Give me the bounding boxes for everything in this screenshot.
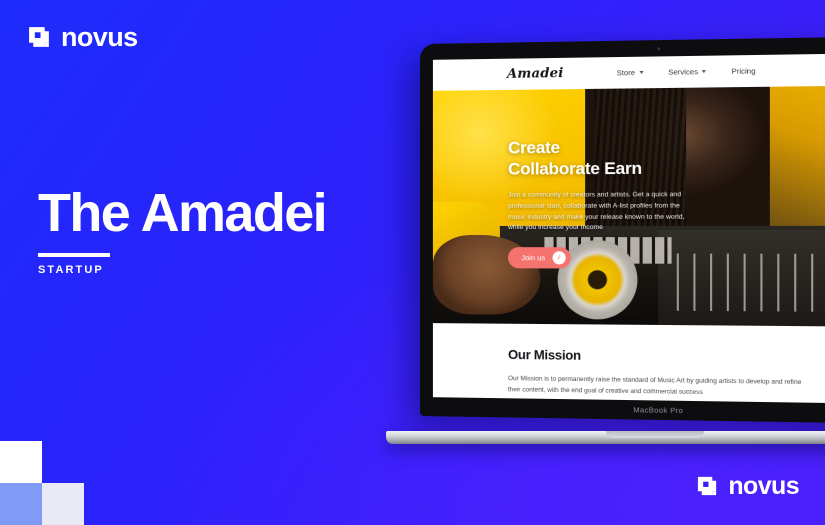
nav-item-store-label: Store bbox=[617, 68, 635, 77]
site-logo[interactable]: Amadei bbox=[507, 66, 563, 82]
laptop-base bbox=[386, 431, 825, 444]
chevron-down-icon bbox=[639, 71, 643, 74]
nav-item-services-label: Services bbox=[668, 67, 698, 77]
webcam-icon bbox=[657, 47, 660, 50]
square-bottom-left bbox=[0, 483, 42, 525]
mission-heading: Our Mission bbox=[508, 347, 825, 367]
brand-wordmark: novus bbox=[728, 474, 799, 499]
novus-square-mark-icon bbox=[696, 475, 719, 498]
laptop-base-notch bbox=[606, 431, 704, 438]
device-label: MacBook Pro bbox=[420, 402, 825, 419]
nav-item-pricing[interactable]: Pricing bbox=[731, 66, 755, 76]
brand-logo-bottom-right: novus bbox=[696, 474, 799, 499]
join-us-button-label: Join us bbox=[521, 253, 545, 262]
brand-logo-top-left: novus bbox=[27, 24, 138, 51]
novus-square-mark-icon bbox=[27, 25, 52, 50]
hero-heading-line-1: Create bbox=[508, 136, 690, 159]
square-top-right bbox=[42, 441, 84, 483]
brand-wordmark: novus bbox=[61, 24, 138, 51]
nav-item-pricing-label: Pricing bbox=[731, 66, 755, 76]
chevron-down-icon bbox=[702, 70, 706, 73]
hero-paragraph: Join a community of creators and artists… bbox=[508, 190, 690, 234]
site-nav: Store Services Pricing bbox=[617, 66, 756, 77]
hero-heading-line-2: Collaborate Earn bbox=[508, 157, 690, 179]
site-mission-section: Our Mission Our Mission is to permanentl… bbox=[433, 323, 825, 404]
photo-mixer-faders bbox=[677, 254, 825, 312]
nav-item-store[interactable]: Store bbox=[617, 68, 644, 78]
square-top-left bbox=[0, 441, 42, 483]
square-bottom-right bbox=[42, 483, 84, 525]
mission-paragraph: Our Mission is to permanently raise the … bbox=[508, 373, 803, 400]
laptop-screen: Amadei Store Services Pricing bbox=[433, 53, 825, 404]
music-note-icon: ♪ bbox=[552, 251, 565, 264]
nav-item-services[interactable]: Services bbox=[668, 67, 706, 77]
title-divider bbox=[38, 253, 110, 257]
page-title: The Amadei bbox=[38, 186, 326, 241]
site-hero-section: Create Collaborate Earn Join a community… bbox=[433, 85, 825, 327]
hero-copy-block: Create Collaborate Earn Join a community… bbox=[508, 136, 690, 269]
hero-heading: Create Collaborate Earn bbox=[508, 136, 690, 180]
laptop-mockup: MacBook Pro Amadei Store Services bbox=[420, 44, 825, 444]
site-navbar: Amadei Store Services Pricing bbox=[433, 53, 825, 91]
laptop-lid: MacBook Pro Amadei Store Services bbox=[420, 36, 825, 424]
join-us-button[interactable]: Join us ♪ bbox=[508, 247, 571, 268]
page-kicker: STARTUP bbox=[38, 264, 104, 276]
poster-canvas: novus The Amadei STARTUP MacBook Pro Ama… bbox=[0, 0, 825, 525]
decorative-square-grid bbox=[0, 441, 84, 525]
